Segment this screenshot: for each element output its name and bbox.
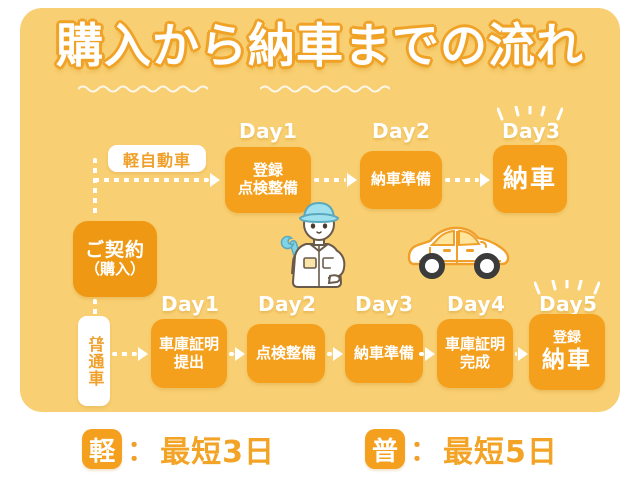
connector-futsu-1-2 <box>229 348 245 360</box>
summary-badge-futsu: 普 <box>365 429 405 469</box>
connector-futsu-3-4 <box>419 348 435 360</box>
day-label-kei-1: Day1 <box>239 119 297 143</box>
summary-text-kei: 最短3日 <box>160 427 275 471</box>
step-futsu-5-line1: 登録 <box>553 330 581 347</box>
summary-item-futsu: 普 ： 最短5日 <box>365 427 558 471</box>
car-illustration <box>405 220 517 286</box>
step-futsu-2-line1: 点検整備 <box>256 345 316 363</box>
step-box-futsu-2: 点検整備 <box>247 324 325 383</box>
step-kei-2-line1: 納車準備 <box>371 171 431 189</box>
step-box-futsu-3: 納車準備 <box>345 324 423 383</box>
step-box-futsu-1: 車庫証明 提出 <box>151 319 227 388</box>
connector-kei-1-2 <box>314 174 357 186</box>
connector-kei-2-3 <box>445 174 490 186</box>
flow-panel: 購入から納車までの流れ 軽自動車 普通車 ご契約 （購入） Day1 登録 <box>20 8 620 412</box>
connector-contract-up <box>93 158 97 218</box>
step-kei-1-line2: 点検整備 <box>238 180 298 198</box>
page-title: 購入から納車までの流れ <box>56 22 584 71</box>
connector-futsu-entry <box>112 348 148 360</box>
contract-line1: ご契約 <box>85 239 145 261</box>
step-futsu-1-line2: 提出 <box>174 354 204 372</box>
step-kei-3-line1: 納車 <box>503 164 557 194</box>
title-wave-left <box>78 84 208 93</box>
day-label-futsu-1: Day1 <box>161 292 219 316</box>
step-futsu-4-line1: 車庫証明 <box>445 336 505 354</box>
connector-futsu-4-5 <box>515 348 528 360</box>
summary-badge-kei: 軽 <box>82 429 122 469</box>
step-kei-1-line1: 登録 <box>253 162 283 180</box>
day-label-futsu-5: Day5 <box>539 292 597 316</box>
title-wave-right <box>260 84 390 93</box>
step-box-contract: ご契約 （購入） <box>73 221 157 297</box>
connector-contract-down <box>93 299 97 359</box>
contract-line2: （購入） <box>85 261 145 279</box>
step-box-kei-3: 納車 <box>493 145 567 213</box>
step-futsu-1-line1: 車庫証明 <box>159 336 219 354</box>
step-box-futsu-4: 車庫証明 完成 <box>437 319 513 388</box>
step-futsu-3-line1: 納車準備 <box>354 345 414 363</box>
infographic-root: 購入から納車までの流れ 軽自動車 普通車 ご契約 （購入） Day1 登録 <box>0 0 640 480</box>
connector-kei-entry <box>94 174 220 186</box>
step-futsu-4-line2: 完成 <box>460 354 490 372</box>
step-futsu-5-line2: 納車 <box>542 347 592 374</box>
lane-label-kei: 軽自動車 <box>108 145 206 172</box>
mechanic-illustration <box>276 200 362 304</box>
day-label-kei-3: Day3 <box>502 119 560 143</box>
summary-bar: 軽 ： 最短3日 普 ： 最短5日 <box>0 424 640 474</box>
connector-futsu-2-3 <box>327 348 343 360</box>
day-label-kei-2: Day2 <box>372 119 430 143</box>
step-box-futsu-5: 登録 納車 <box>529 314 605 390</box>
day-label-futsu-4: Day4 <box>447 292 505 316</box>
day-label-futsu-2: Day2 <box>258 292 316 316</box>
summary-colon-futsu: ： <box>410 429 438 469</box>
step-box-kei-2: 納車準備 <box>360 151 442 209</box>
day-label-futsu-3: Day3 <box>355 292 413 316</box>
title-block: 購入から納車までの流れ <box>20 22 620 71</box>
summary-colon-kei: ： <box>127 429 155 469</box>
summary-text-futsu: 最短5日 <box>443 427 558 471</box>
summary-item-kei: 軽 ： 最短3日 <box>82 427 275 471</box>
